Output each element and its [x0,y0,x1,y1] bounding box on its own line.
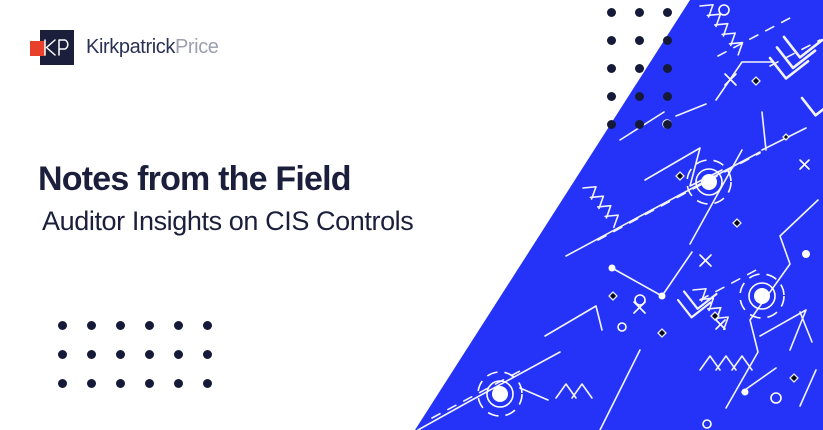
dot [145,350,154,359]
decorative-dot-grid-top-right [607,8,691,148]
headline-block: Notes from the Field Auditor Insights on… [38,160,578,237]
dot [116,379,125,388]
dot [203,350,212,359]
dot [87,379,96,388]
dot [635,92,644,101]
dot [58,350,67,359]
dot [116,350,125,359]
dot [145,321,154,330]
dot [145,379,154,388]
logo-red-square [30,41,45,56]
wordmark-kirkpatrick: Kirkpatrick [86,36,175,58]
dot [635,36,644,45]
dot [116,321,125,330]
dot [174,321,183,330]
dot [607,120,616,129]
dot [58,321,67,330]
decorative-dot-grid-bottom-left [58,321,232,408]
dot [635,64,644,73]
dot [87,350,96,359]
dot [635,8,644,17]
dot [203,321,212,330]
dot [635,120,644,129]
dot [663,64,672,73]
dot [663,36,672,45]
dot [607,92,616,101]
kp-monogram-icon [30,30,74,65]
page-title: Notes from the Field [38,160,578,199]
dot [607,64,616,73]
dot [663,8,672,17]
kirkpatrickprice-logo[interactable]: KirkpatrickPrice [30,30,219,65]
dot [607,36,616,45]
dot [607,8,616,17]
dot [203,379,212,388]
dot [87,321,96,330]
kp-letters-icon [44,39,70,56]
dot [663,92,672,101]
dot [174,379,183,388]
dot [663,120,672,129]
logo-wordmark: KirkpatrickPrice [86,36,219,59]
dot [58,379,67,388]
wordmark-price: Price [175,36,219,58]
notes-from-the-field-banner: KirkpatrickPrice Notes from the Field Au… [0,0,823,430]
page-subtitle: Auditor Insights on CIS Controls [42,205,578,237]
dot [174,350,183,359]
